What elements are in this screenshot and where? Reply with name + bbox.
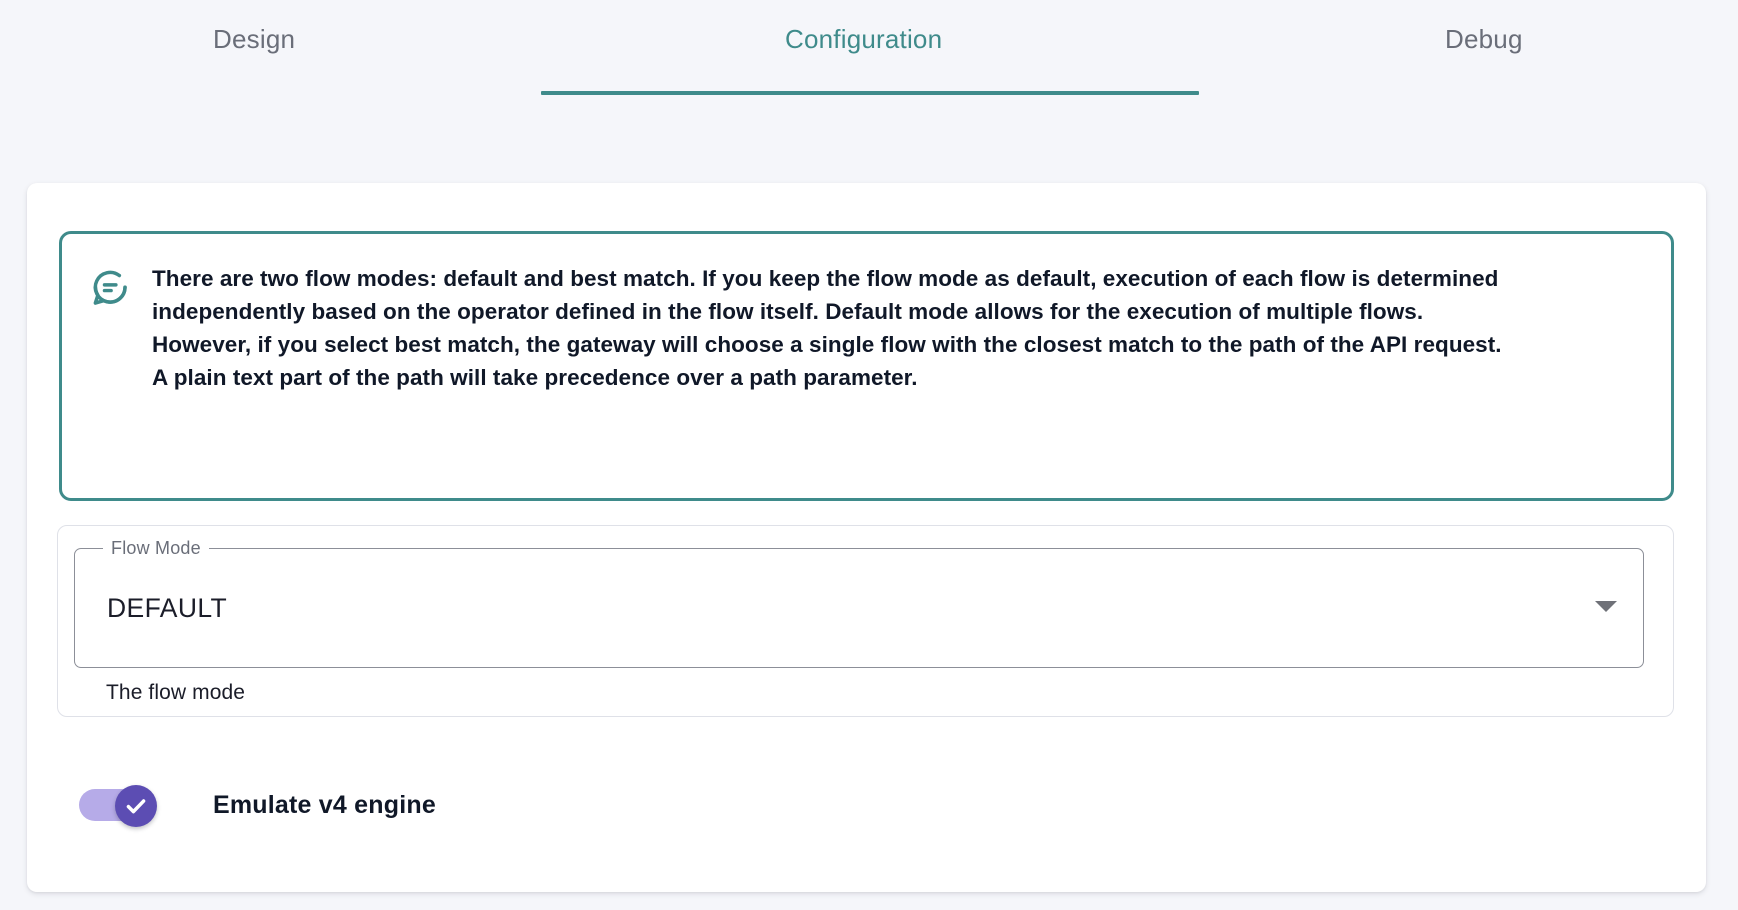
callout-line2-part1: However, if you select best match, the g… [152, 332, 809, 357]
tab-design[interactable]: Design [213, 24, 295, 55]
callout-line1-emphasis: multiple [1266, 299, 1353, 324]
tab-configuration[interactable]: Configuration [785, 24, 942, 55]
tab-debug[interactable]: Debug [1445, 24, 1523, 55]
flow-mode-info-callout: There are two flow modes: default and be… [59, 231, 1674, 501]
callout-paragraph-3: A plain text part of the path will take … [152, 361, 1643, 394]
check-icon [123, 793, 149, 819]
flow-mode-select[interactable]: Flow Mode DEFAULT [74, 548, 1644, 668]
chevron-down-icon[interactable] [1595, 601, 1617, 612]
speech-bubble-info-icon [88, 266, 132, 310]
emulate-v4-engine-row: Emulate v4 engine [79, 777, 436, 833]
toggle-thumb [115, 785, 157, 827]
emulate-v4-engine-toggle[interactable] [79, 785, 163, 825]
flow-mode-hint: The flow mode [106, 681, 245, 705]
callout-line2-part2: flow with the closest match to the path … [874, 332, 1501, 357]
callout-text: There are two flow modes: default and be… [152, 260, 1643, 394]
callout-paragraph-2: However, if you select best match, the g… [152, 328, 1643, 361]
callout-line1-part2: flows. [1353, 299, 1423, 324]
callout-paragraph-1: There are two flow modes: default and be… [152, 262, 1643, 328]
flow-mode-field-group: Flow Mode DEFAULT The flow mode [57, 525, 1674, 717]
active-tab-underline [541, 91, 1199, 95]
callout-line2-emphasis: single [809, 332, 874, 357]
tab-bar: Design Configuration Debug [0, 0, 1738, 100]
emulate-v4-engine-label: Emulate v4 engine [213, 791, 436, 820]
flow-mode-label: Flow Mode [103, 537, 209, 559]
flow-mode-value: DEFAULT [107, 593, 227, 624]
configuration-card: There are two flow modes: default and be… [27, 183, 1706, 892]
